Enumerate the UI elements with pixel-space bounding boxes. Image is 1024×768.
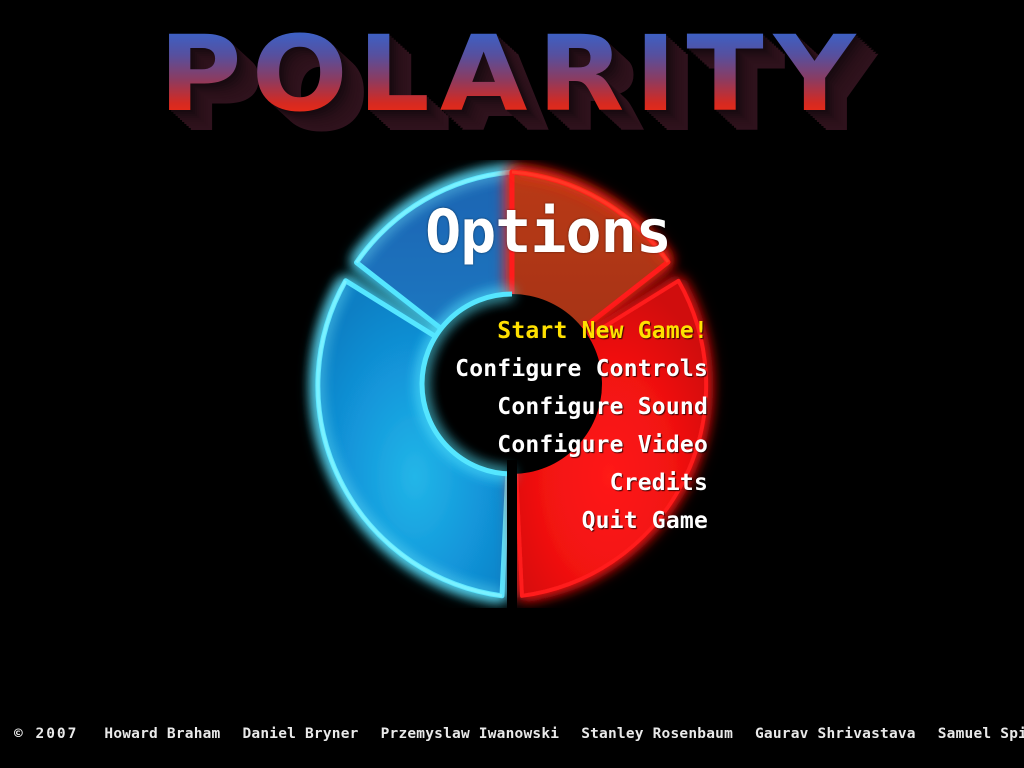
- menu-item-credits[interactable]: Credits: [300, 464, 708, 502]
- credit-name: Samuel Spiro: [938, 726, 1024, 742]
- game-title: POLARITY POLARITY: [0, 14, 1024, 134]
- page-title: Options: [0, 196, 1024, 268]
- credit-name: Gaurav Shrivastava: [755, 726, 916, 742]
- credit-name: Przemyslaw Iwanowski: [381, 726, 560, 742]
- credit-name: Stanley Rosenbaum: [581, 726, 733, 742]
- main-menu: Start New Game! Configure Controls Confi…: [300, 312, 708, 540]
- menu-item-configure-sound[interactable]: Configure Sound: [300, 388, 708, 426]
- game-title-face: POLARITY: [0, 14, 1024, 134]
- menu-item-quit-game[interactable]: Quit Game: [300, 502, 708, 540]
- copyright-notice: © 2007: [14, 726, 78, 742]
- menu-item-start-new-game[interactable]: Start New Game!: [300, 312, 708, 350]
- menu-item-configure-controls[interactable]: Configure Controls: [300, 350, 708, 388]
- credits-bar: © 2007 Howard Braham Daniel Bryner Przem…: [14, 726, 1014, 742]
- credit-name: Daniel Bryner: [242, 726, 358, 742]
- game-screen: POLARITY POLARITY: [0, 0, 1024, 768]
- credit-name: Howard Braham: [104, 726, 220, 742]
- menu-item-configure-video[interactable]: Configure Video: [300, 426, 708, 464]
